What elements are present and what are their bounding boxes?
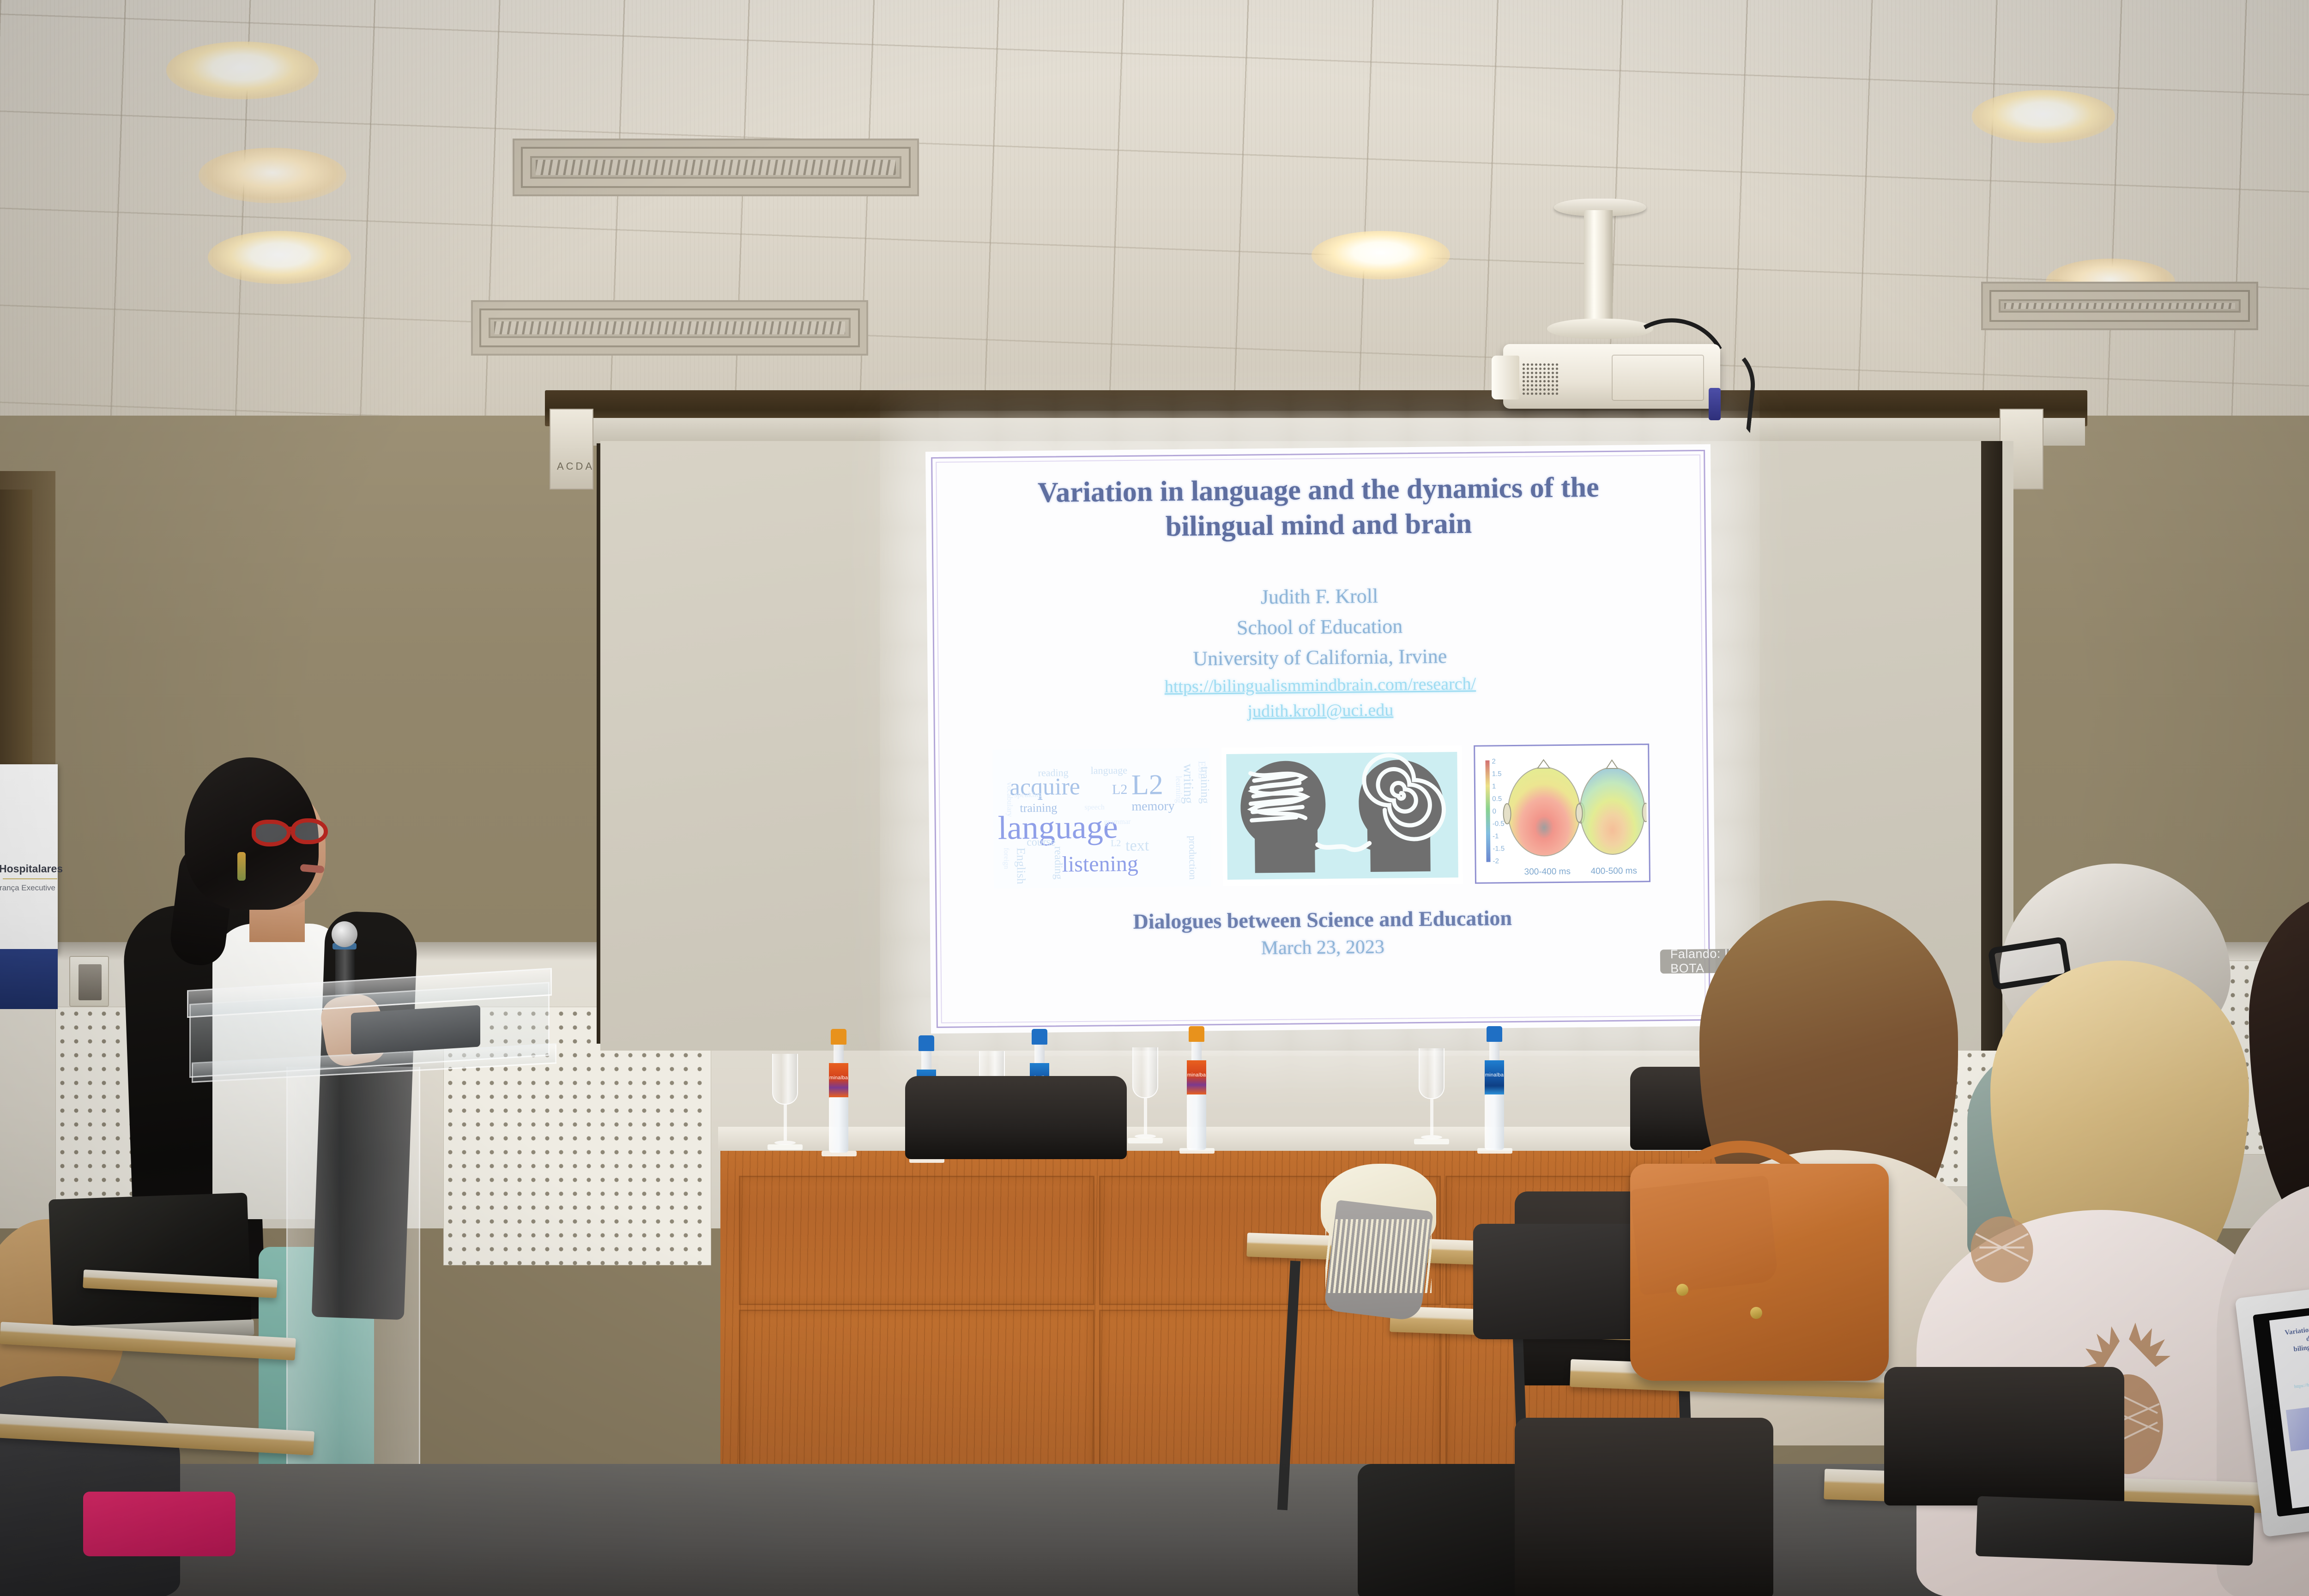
- eeg-label-window-2: 400-500 ms: [1577, 866, 1651, 877]
- eeg-svg: [1475, 745, 1647, 881]
- slide-footer: Dialogues between Science and Education …: [1133, 904, 1512, 962]
- eeg-label-window-1: 300-400 ms: [1511, 867, 1584, 878]
- bottle-neck: [1191, 1042, 1202, 1060]
- eeg-colorbar-tick: 2: [1492, 758, 1496, 766]
- eeg-topomap-figure: 21.510.50-0.5-1-1.5-2 300-400 ms 400-500…: [1474, 744, 1650, 884]
- wordcloud-word: L2: [1131, 769, 1164, 802]
- panel-segment: [739, 1176, 1094, 1305]
- wine-glass-4: [1419, 1048, 1445, 1139]
- water-bottle-1: minalba: [829, 1029, 848, 1153]
- speaker-eyeglasses-bridge: [287, 827, 296, 831]
- bottle-brand: minalba: [829, 1063, 848, 1081]
- bottle-cap: [1487, 1026, 1502, 1042]
- glass-stem: [784, 1105, 787, 1141]
- laptop-right-screen: Variation in language and the dynamics o…: [2253, 1299, 2309, 1517]
- wordcloud-word: training: [1020, 801, 1057, 816]
- wordcloud-word: production: [1186, 836, 1199, 880]
- ceiling-downlight-2: [199, 148, 346, 203]
- panel-segment: [1099, 1310, 1441, 1476]
- screen-housing-left-bracket: ACDA: [550, 409, 593, 490]
- glass-bowl: [1132, 1047, 1158, 1098]
- slide-affiliation-university: University of California, Irvine: [1193, 641, 1447, 674]
- eeg-colorbar-tick: -2: [1493, 858, 1499, 865]
- bottle-body: [1485, 1094, 1504, 1150]
- eeg-colorbar-tick: -0.5: [1493, 820, 1505, 828]
- bottle-neck: [1489, 1042, 1499, 1060]
- banner-divider: [3, 878, 57, 879]
- microphone-icon[interactable]: [332, 921, 357, 947]
- lectern-post: [286, 1067, 420, 1529]
- mini-slide-wordcloud: language: [2286, 1397, 2309, 1451]
- bottle-neck: [921, 1051, 931, 1070]
- eeg-colorbar-tick: 1: [1492, 783, 1496, 791]
- eeg-colorbar-tick: -1.5: [1493, 845, 1505, 853]
- slide-author-name: Judith F. Kroll: [1192, 580, 1446, 613]
- water-bottle-4: minalba: [1187, 1026, 1206, 1150]
- audience-body-left-foreground: [0, 1376, 180, 1596]
- wordcloud-word: reading: [1038, 767, 1069, 780]
- slide-event-date: March 23, 2023: [1133, 933, 1512, 963]
- glass-bowl: [772, 1054, 798, 1105]
- bottle-body: [829, 1097, 848, 1153]
- ceiling-tile-texture: [0, 0, 2309, 443]
- bottle-label: minalba: [1187, 1060, 1206, 1094]
- bottle-cap: [1189, 1026, 1204, 1042]
- slide-title: Variation in language and the dynamics o…: [1038, 470, 1600, 545]
- wordcloud-figure: languageacquireL2listeningL2memorytraini…: [992, 748, 1211, 889]
- bottle-neck: [1034, 1045, 1045, 1063]
- pineapple-print-icon-shoulder: [1958, 1201, 2046, 1288]
- coaster: [768, 1144, 803, 1150]
- bottle-body: [1187, 1094, 1206, 1150]
- slide-title-line-1: Variation in language and the dynamics o…: [1038, 470, 1599, 510]
- closed-device-on-desk[interactable]: [1976, 1496, 2255, 1566]
- laptop-mini-slide: Variation in language and the dynamics o…: [2269, 1306, 2309, 1508]
- slide-author-block: Judith F. Kroll School of Education Univ…: [1192, 580, 1447, 674]
- shawl-fringe: [1325, 1219, 1432, 1293]
- slide-event-name: Dialogues between Science and Education: [1133, 904, 1512, 936]
- glass-bowl: [1419, 1048, 1445, 1099]
- projector-mount-pole: [1584, 210, 1613, 335]
- ceiling-air-vent-2: [471, 300, 868, 356]
- handbag-clasp-icon: [1750, 1307, 1762, 1319]
- slide-figure-row: languageacquireL2listeningL2memorytraini…: [951, 744, 1692, 889]
- ceiling-air-vent-3: [1981, 282, 2258, 330]
- coaster: [1414, 1139, 1449, 1144]
- wordcloud-word: L2: [1112, 782, 1128, 798]
- banner-line-2: rança Executive: [0, 883, 58, 893]
- bottle-label: minalba: [829, 1063, 848, 1097]
- bottle-label: minalba: [1485, 1060, 1504, 1094]
- speaker-earring: [237, 852, 246, 881]
- wordcloud-word: foreign: [1002, 848, 1010, 869]
- mini-slide-title-1: Variation in language and the dynamics o…: [2271, 1317, 2309, 1348]
- eeg-colorbar-tick: 1.5: [1492, 770, 1502, 778]
- ceiling-air-vent-1: [513, 139, 919, 196]
- slide-title-line-2: bilingual mind and brain: [1038, 505, 1599, 545]
- coaster: [1128, 1138, 1163, 1143]
- heads-svg: [1226, 751, 1458, 883]
- speaker-eyeglasses-right-lens: [291, 818, 328, 844]
- eeg-colorbar-tick: 0: [1492, 808, 1496, 816]
- mini-slide-link: https://bilingualismmindbrain.com/resear…: [2277, 1372, 2309, 1391]
- projector-lens: [1492, 356, 1519, 399]
- audience-laptop-left[interactable]: [48, 1193, 252, 1334]
- wordcloud-word: vocabulary: [1005, 782, 1015, 817]
- wordcloud-word: speaking: [1014, 790, 1042, 800]
- wordcloud-word: ESL: [1196, 761, 1208, 779]
- wordcloud-word: reading: [1052, 846, 1064, 880]
- panel-chair[interactable]: [905, 1076, 1127, 1159]
- ceiling-downlight-1: [166, 42, 319, 99]
- slide-website-link[interactable]: https://bilingualismmindbrain.com/resear…: [1164, 671, 1476, 700]
- panel-table-top: [718, 1127, 1762, 1151]
- ceiling-downlight-4: [1972, 90, 2115, 143]
- wordcloud-word: learning: [1174, 776, 1184, 803]
- rollup-banner: [0, 764, 58, 954]
- ceiling-downlight-3: [208, 231, 351, 284]
- wordcloud-word: language: [1091, 764, 1128, 777]
- bottle-brand: minalba: [1187, 1060, 1206, 1078]
- rollup-banner-blue-band: [0, 949, 58, 1009]
- wordcloud-word: text: [1125, 837, 1149, 855]
- bottle-cap: [831, 1029, 846, 1045]
- banner-line-1: Hospitalares: [0, 863, 58, 875]
- bottle-cap: [1032, 1029, 1047, 1045]
- projector-vga-plug: [1709, 388, 1721, 420]
- glass-foot: [1135, 1134, 1156, 1138]
- wordcloud-word: memory: [1131, 799, 1175, 814]
- glass-stem: [1144, 1098, 1147, 1134]
- eeg-colorbar-tick: -1: [1493, 833, 1499, 840]
- ceiling: [0, 0, 2309, 443]
- light-switch-plate[interactable]: [69, 956, 109, 1007]
- handbag-flap: [1630, 1175, 1778, 1295]
- screen-brand-label: ACDA: [557, 460, 594, 472]
- handbag-clasp-icon: [1676, 1284, 1688, 1296]
- audience-chair[interactable]: [1515, 1418, 1773, 1596]
- wordcloud-word: grammar: [1104, 818, 1131, 827]
- bottle-neck: [834, 1045, 844, 1063]
- glass-stem: [1430, 1099, 1433, 1135]
- glass-foot: [1421, 1135, 1442, 1139]
- wordcloud-word: L2: [1111, 839, 1121, 849]
- wine-glass-3: [1132, 1047, 1158, 1138]
- projected-slide: Variation in language and the dynamics o…: [925, 444, 1716, 1034]
- glass-foot: [774, 1141, 796, 1145]
- slide-email-link[interactable]: judith.kroll@uci.edu: [1247, 698, 1393, 725]
- panel-segment: [739, 1310, 1094, 1476]
- eeg-colorbar-tick: 0.5: [1492, 795, 1502, 803]
- wordcloud-word: listening: [1062, 851, 1138, 877]
- heads-communication-figure: [1221, 746, 1463, 887]
- ceiling-downlight-5: [1312, 231, 1450, 279]
- wine-glass-1: [772, 1054, 798, 1145]
- bottle-brand: minalba: [1485, 1060, 1504, 1078]
- pink-item-under-desk: [83, 1492, 236, 1556]
- wordcloud-word: language: [997, 808, 1118, 847]
- lecture-hall-photo: ACDA Variation in language and the dynam…: [0, 0, 2309, 1596]
- wordcloud-word: speech: [1084, 804, 1105, 812]
- audience-chair[interactable]: [1884, 1367, 2124, 1505]
- water-bottle-5: minalba: [1485, 1026, 1504, 1150]
- projector-port-panel: [1612, 355, 1704, 401]
- wordcloud-word: English: [1014, 848, 1028, 885]
- slide-affiliation-school: School of Education: [1192, 611, 1446, 644]
- bottle-cap: [919, 1035, 934, 1051]
